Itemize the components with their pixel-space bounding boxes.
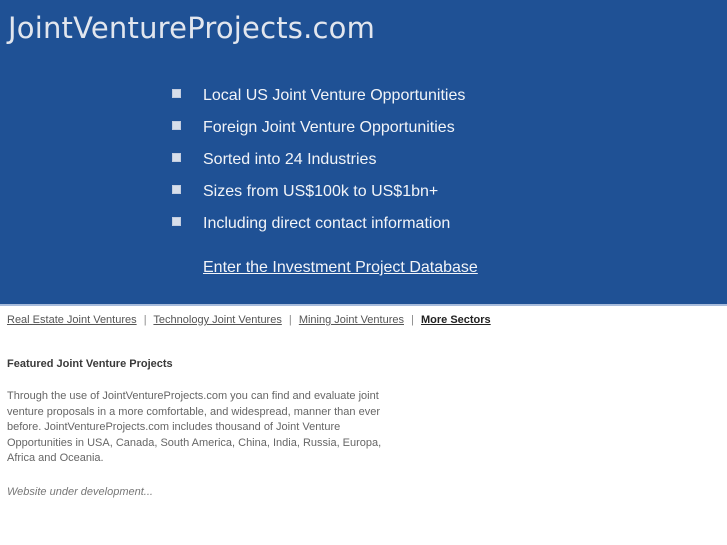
square-bullet-icon: [172, 121, 181, 130]
list-item: Local US Joint Venture Opportunities: [172, 84, 465, 116]
square-bullet-icon: [172, 217, 181, 226]
nav-separator: |: [140, 314, 151, 326]
development-note: Website under development...: [7, 467, 477, 500]
enter-database-link[interactable]: Enter the Investment Project Database: [203, 259, 478, 277]
sidebar-item-mining[interactable]: Mining Joint Ventures: [299, 314, 404, 326]
nav-separator: |: [407, 314, 418, 326]
square-bullet-icon: [172, 89, 181, 98]
feature-label: Sizes from US$100k to US$1bn+: [203, 183, 438, 200]
feature-list: Local US Joint Venture Opportunities For…: [172, 84, 465, 244]
square-bullet-icon: [172, 185, 181, 194]
sector-nav: Real Estate Joint Ventures | Technology …: [0, 314, 727, 330]
sidebar-item-technology[interactable]: Technology Joint Ventures: [153, 314, 281, 326]
sidebar-item-real-estate[interactable]: Real Estate Joint Ventures: [7, 314, 137, 326]
list-item: Sizes from US$100k to US$1bn+: [172, 180, 465, 212]
list-item: Sorted into 24 Industries: [172, 148, 465, 180]
hero-banner: JointVentureProjects.com Local US Joint …: [0, 0, 727, 306]
intro-paragraph: Through the use of JointVentureProjects.…: [7, 371, 407, 467]
nav-separator: |: [285, 314, 296, 326]
feature-label: Including direct contact information: [203, 215, 450, 232]
main-content: Featured Joint Venture Projects Through …: [7, 357, 477, 500]
sidebar-item-more-sectors[interactable]: More Sectors: [421, 314, 491, 326]
page-title: Featured Joint Venture Projects: [7, 357, 477, 371]
square-bullet-icon: [172, 153, 181, 162]
site-title: JointVentureProjects.com: [8, 11, 375, 45]
feature-label: Foreign Joint Venture Opportunities: [203, 119, 455, 136]
list-item: Including direct contact information: [172, 212, 465, 244]
feature-label: Local US Joint Venture Opportunities: [203, 87, 465, 104]
list-item: Foreign Joint Venture Opportunities: [172, 116, 465, 148]
feature-label: Sorted into 24 Industries: [203, 151, 376, 168]
